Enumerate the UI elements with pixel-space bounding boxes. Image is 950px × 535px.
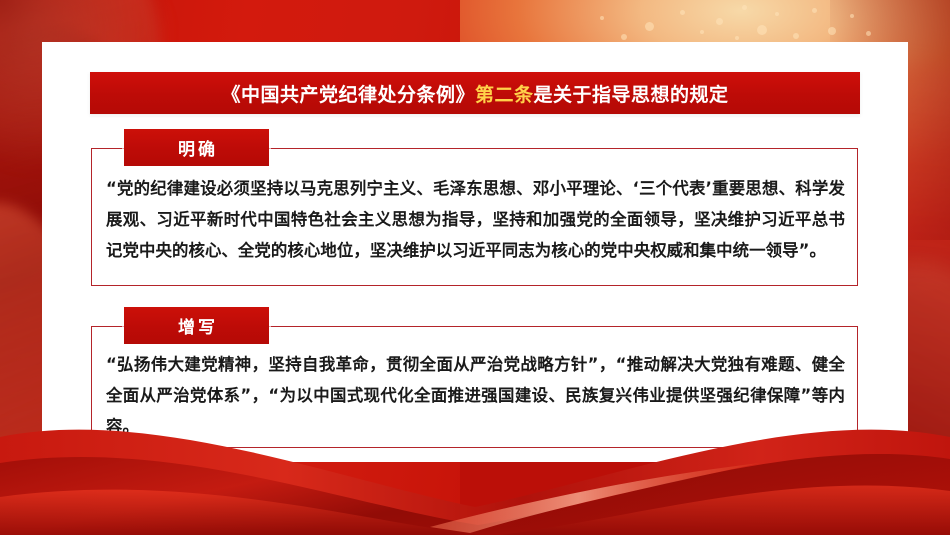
title-prefix: 《中国共产党纪律处分条例》 <box>221 85 475 106</box>
bokeh-particle <box>600 16 604 20</box>
bokeh-particle <box>735 36 739 40</box>
section-tag-zengxie: 增写 <box>124 307 269 344</box>
page-title: 《中国共产党纪律处分条例》第二条是关于指导思想的规定 <box>221 80 728 107</box>
bokeh-particle <box>757 25 767 35</box>
bokeh-particle <box>742 5 747 10</box>
bottom-wave-decor <box>0 385 950 535</box>
title-suffix: 是关于指导思想的规定 <box>534 85 729 106</box>
section-tag-label: 增写 <box>175 313 218 338</box>
wave-svg <box>0 385 950 535</box>
bokeh-particle <box>680 10 685 15</box>
bokeh-particle <box>793 33 799 39</box>
bokeh-particle <box>645 22 654 31</box>
section-tag-mingque: 明确 <box>124 129 269 166</box>
bokeh-particle <box>828 27 836 35</box>
section-tag-label: 明确 <box>175 135 218 160</box>
title-highlight: 第二条 <box>475 85 534 106</box>
bokeh-particle <box>700 30 704 34</box>
slide-stage: 《中国共产党纪律处分条例》第二条是关于指导思想的规定 明确 “党的纪律建设必须坚… <box>0 0 950 535</box>
bokeh-particle <box>866 31 871 36</box>
bokeh-particle <box>850 14 854 18</box>
section-mingque: 明确 “党的纪律建设必须坚持以马克思列宁主义、毛泽东思想、邓小平理论、‘三个代表… <box>91 148 858 286</box>
bokeh-particle <box>621 34 627 40</box>
slide-title-bar: 《中国共产党纪律处分条例》第二条是关于指导思想的规定 <box>90 72 860 114</box>
section-body-mingque: “党的纪律建设必须坚持以马克思列宁主义、毛泽东思想、邓小平理论、‘三个代表’重要… <box>106 173 845 266</box>
bokeh-particle <box>812 8 817 13</box>
bokeh-particle <box>775 12 779 16</box>
bokeh-particle <box>716 18 723 25</box>
